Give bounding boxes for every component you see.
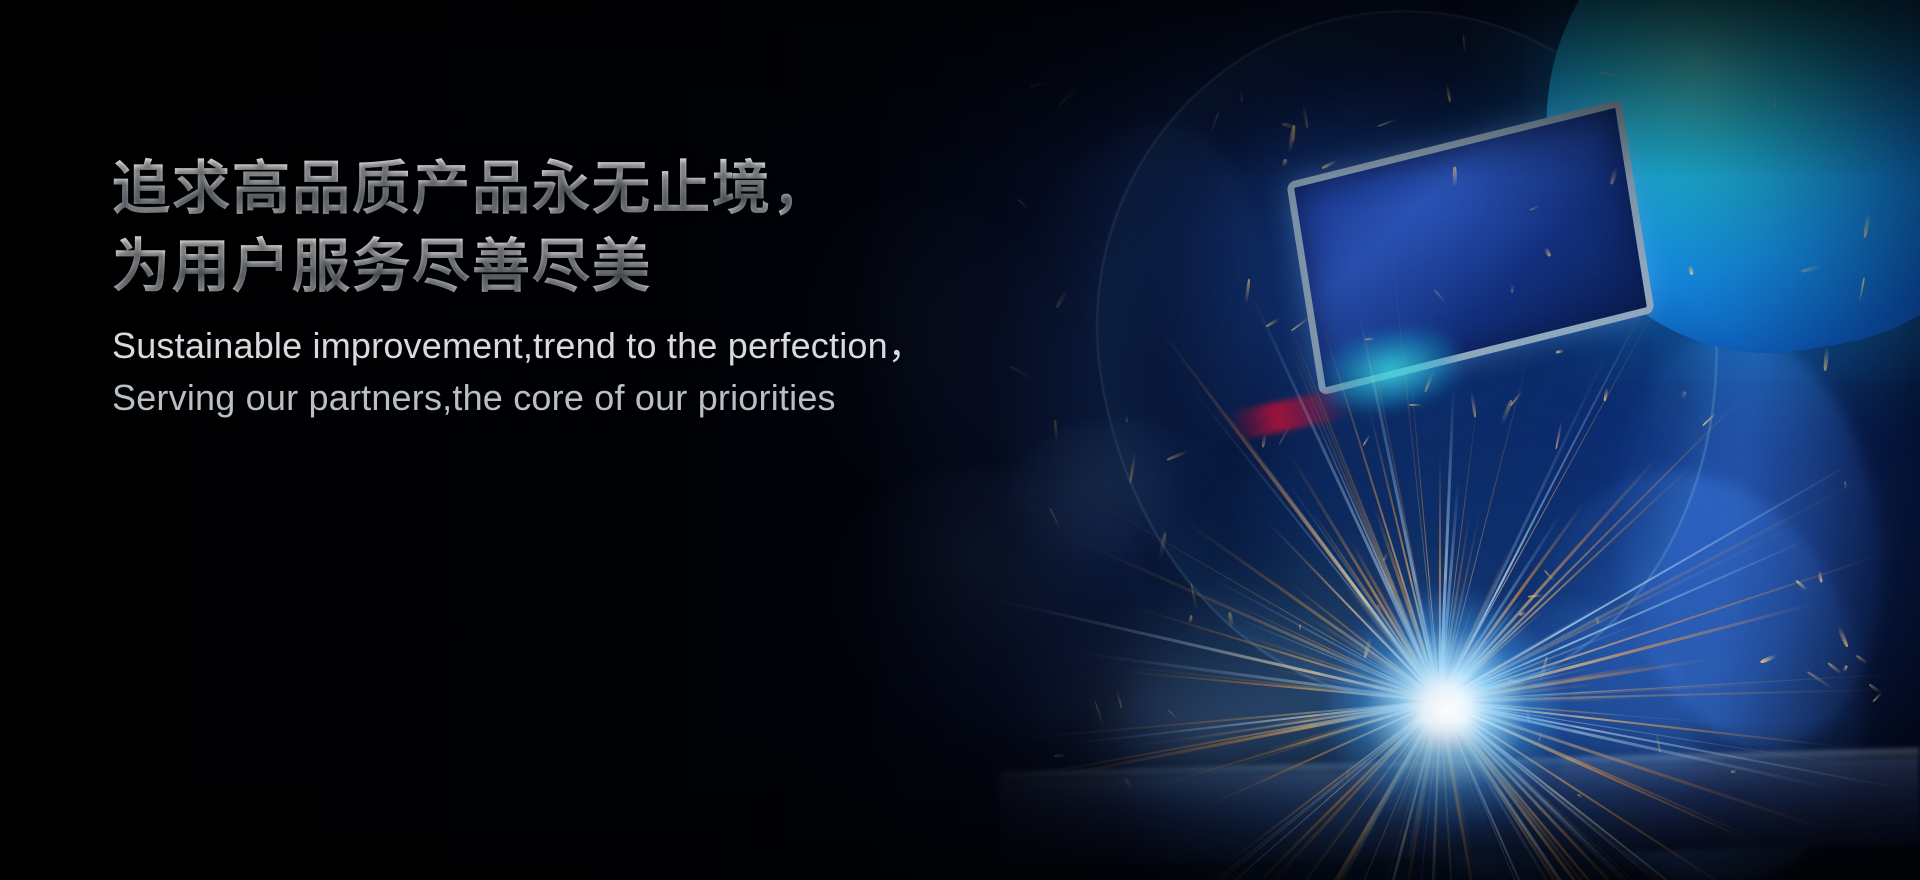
headline-line-2: 为用户服务尽善尽美 bbox=[112, 228, 1212, 306]
headline-line-1: 追求高品质产品永无止境， bbox=[112, 150, 1212, 228]
welding-photo bbox=[0, 0, 1920, 880]
banner-copy: 追求高品质产品永无止境， 为用户服务尽善尽美 Sustainable impro… bbox=[112, 150, 1212, 424]
banner-subtitle: Sustainable improvement,trend to the per… bbox=[112, 320, 1212, 424]
hero-banner: 追求高品质产品永无止境， 为用户服务尽善尽美 Sustainable impro… bbox=[0, 0, 1920, 880]
bottom-shade-overlay bbox=[0, 720, 1920, 880]
subtitle-line-2: Serving our partners,the core of our pri… bbox=[112, 372, 1212, 424]
subtitle-line-1: Sustainable improvement,trend to the per… bbox=[112, 320, 1212, 372]
